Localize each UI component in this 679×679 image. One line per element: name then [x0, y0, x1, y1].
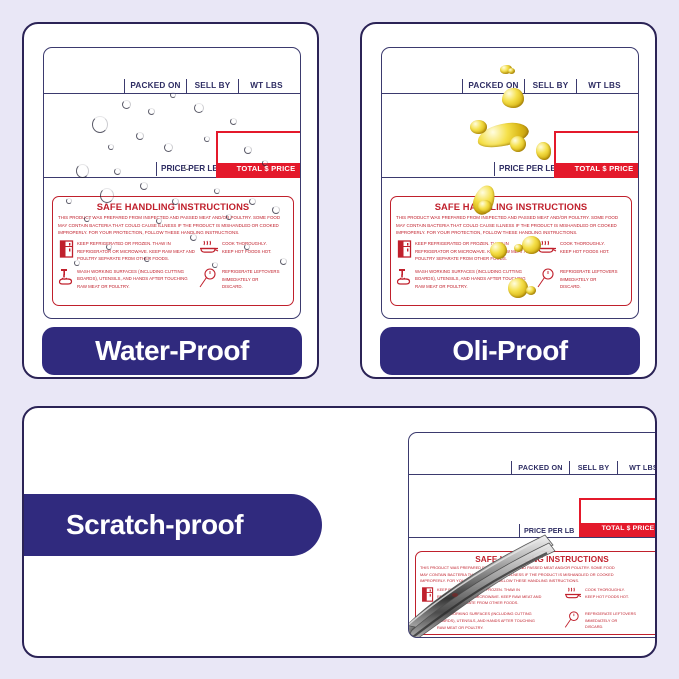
safe-handling-title: SAFE HANDLING INSTRUCTIONS [53, 201, 293, 212]
header-packed-on: PACKED ON [462, 79, 524, 93]
header-packed-on: PACKED ON [511, 461, 569, 474]
badge-scratch-proof: Scratch-proof [24, 494, 322, 556]
label-price-per-lb: PRICE PER LB [156, 162, 218, 176]
header-wt-lbs: WT LBS [238, 79, 294, 93]
total-price-box: TOTAL $ PRICE [554, 131, 639, 178]
safe-handling-item-refrigerate: KEEP REFRIGERATED OR FROZEN. THAW IN REF… [413, 240, 533, 263]
meat-label-scratch: PACKED ON SELL BY WT LBS PRICE PER LB TO… [408, 432, 657, 638]
feature-panel-grid: PACKED ON SELL BY WT LBS PRICE PER LB TO… [0, 0, 679, 679]
badge-label: Water-Proof [95, 335, 249, 367]
refrigerator-icon [396, 240, 413, 259]
safe-handling-item-cook: COOK THOROUGHLY. KEEP HOT FOODS HOT. [557, 240, 610, 255]
safe-handling-item-wash: WASH WORKING SURFACES (INCLUDING CUTTING… [75, 268, 188, 291]
safe-handling-item-leftovers: REFRIGERATE LEFTOVERS IMMEDIATELY OR DIS… [219, 268, 280, 291]
badge-water-proof: Water-Proof [42, 327, 302, 375]
badge-label: Oli-Proof [452, 335, 567, 367]
safe-handling-item-wash: WASH WORKING SURFACES (INCLUDING CUTTING… [435, 611, 535, 631]
refrigerate-leftovers-icon [564, 611, 582, 630]
safe-handling-box: SAFE HANDLING INSTRUCTIONS THIS PRODUCT … [415, 551, 657, 635]
header-sell-by: SELL BY [186, 79, 238, 93]
safe-handling-paragraph: THIS PRODUCT WAS PREPARED FROM INSPECTED… [416, 564, 657, 585]
badge-label: Scratch-proof [24, 509, 243, 541]
total-price-bar: TOTAL $ PRICE [556, 163, 639, 176]
panel-scratch-proof: Scratch-proof PACKED ON SELL BY WT LBS P… [22, 406, 657, 658]
refrigerate-leftovers-icon [199, 268, 219, 290]
safe-handling-box: SAFE HANDLING INSTRUCTIONS THIS PRODUCT … [52, 196, 294, 306]
label-price-per-lb: PRICE PER LB [494, 162, 556, 176]
total-price-box: TOTAL $ PRICE [216, 131, 301, 178]
label-header-row: PACKED ON SELL BY WT LBS [382, 75, 632, 93]
safe-handling-box: SAFE HANDLING INSTRUCTIONS THIS PRODUCT … [390, 196, 632, 306]
safe-handling-item-wash: WASH WORKING SURFACES (INCLUDING CUTTING… [413, 268, 526, 291]
safe-handling-item-refrigerate: KEEP REFRIGERATED OR FROZEN. THAW IN REF… [75, 240, 195, 263]
header-sell-by: SELL BY [524, 79, 576, 93]
safe-handling-paragraph: THIS PRODUCT WAS PREPARED FROM INSPECTED… [53, 212, 293, 237]
cook-thoroughly-icon [537, 240, 557, 257]
safe-handling-item-cook: COOK THOROUGHLY. KEEP HOT FOODS HOT. [582, 587, 629, 600]
safe-handling-item-leftovers: REFRIGERATE LEFTOVERS IMMEDIATELY OR DIS… [557, 268, 618, 291]
safe-handling-paragraph: THIS PRODUCT WAS PREPARED FROM INSPECTED… [391, 212, 631, 237]
header-wt-lbs: WT LBS [617, 461, 657, 474]
safe-handling-item-leftovers: REFRIGERATE LEFTOVERS IMMEDIATELY OR DIS… [582, 611, 636, 631]
safe-handling-title: SAFE HANDLING INSTRUCTIONS [416, 555, 657, 564]
meat-label-water: PACKED ON SELL BY WT LBS PRICE PER LB TO… [43, 47, 301, 319]
badge-oil-proof: Oli-Proof [380, 327, 640, 375]
wash-hands-icon [396, 268, 413, 288]
refrigerate-leftovers-icon [537, 268, 557, 290]
refrigerator-icon [58, 240, 75, 259]
header-wt-lbs: WT LBS [576, 79, 632, 93]
total-price-bar: TOTAL $ PRICE [581, 523, 657, 535]
refrigerator-icon [420, 587, 435, 603]
wash-hands-icon [58, 268, 75, 288]
label-header-row: PACKED ON SELL BY WT LBS [409, 458, 657, 474]
safe-handling-item-cook: COOK THOROUGHLY. KEEP HOT FOODS HOT. [219, 240, 272, 255]
safe-handling-title: SAFE HANDLING INSTRUCTIONS [391, 201, 631, 212]
panel-oil-proof: PACKED ON SELL BY WT LBS PRICE PER LB TO… [360, 22, 657, 379]
header-packed-on: PACKED ON [124, 79, 186, 93]
meat-label-oil: PACKED ON SELL BY WT LBS PRICE PER LB TO… [381, 47, 639, 319]
safe-handling-item-refrigerate: KEEP REFRIGERATED OR FROZEN. THAW IN REF… [435, 587, 541, 607]
total-price-bar: TOTAL $ PRICE [218, 163, 301, 176]
header-sell-by: SELL BY [569, 461, 617, 474]
cook-thoroughly-icon [199, 240, 219, 257]
label-header-row: PACKED ON SELL BY WT LBS [44, 75, 294, 93]
cook-thoroughly-icon [564, 587, 582, 602]
wash-hands-icon [420, 611, 435, 628]
panel-water-proof: PACKED ON SELL BY WT LBS PRICE PER LB TO… [22, 22, 319, 379]
label-price-per-lb: PRICE PER LB [519, 524, 574, 537]
total-price-box: TOTAL $ PRICE [579, 498, 657, 537]
